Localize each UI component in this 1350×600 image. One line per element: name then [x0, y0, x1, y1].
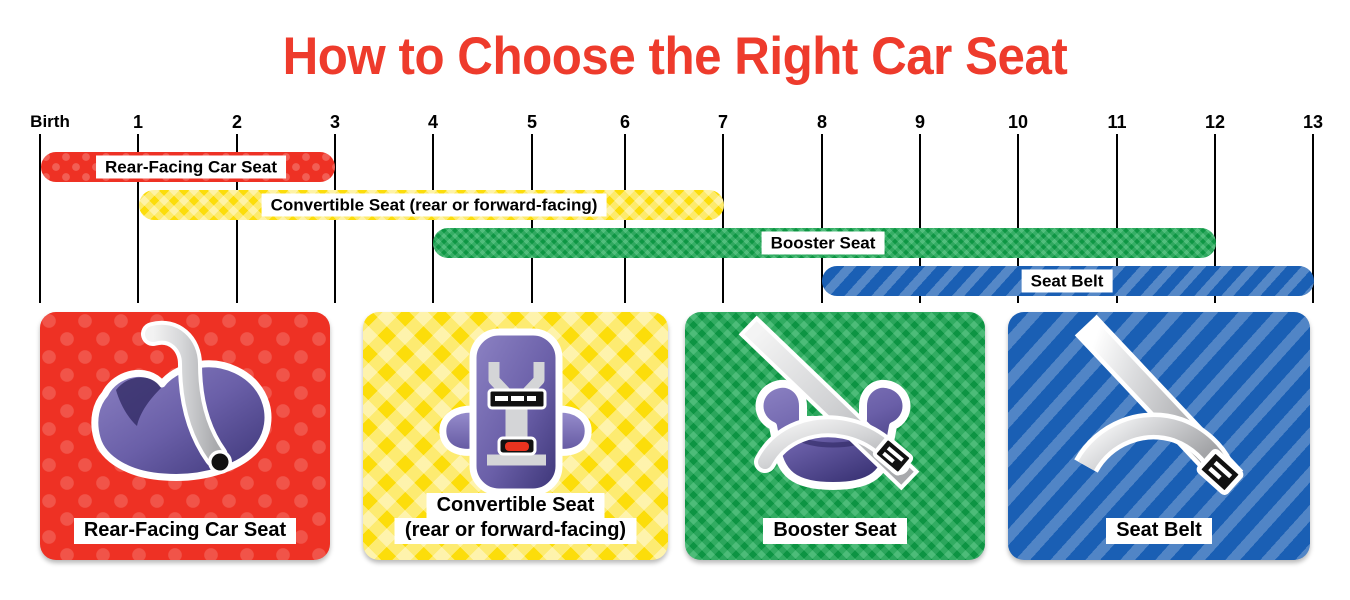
tick-label-9: 9	[915, 112, 925, 133]
tick-label-1: 1	[133, 112, 143, 133]
timeline-bar-label-rear-facing-car-seat: Rear-Facing Car Seat	[96, 155, 286, 178]
timeline-bar-label-booster-seat: Booster Seat	[762, 231, 885, 254]
timeline-bar-label-seat-belt: Seat Belt	[1022, 269, 1113, 292]
card-caption-booster-seat: Booster Seat	[685, 518, 985, 544]
age-timeline: Birth12345678910111213 Rear-Facing Car S…	[0, 112, 1350, 297]
tick-label-8: 8	[817, 112, 827, 133]
page-title: How to Choose the Right Car Seat	[47, 26, 1303, 87]
convertible-seat-icon	[363, 312, 668, 502]
card-caption-rear-facing-car-seat: Rear-Facing Car Seat	[40, 518, 330, 544]
card-booster-seat[interactable]: Booster Seat	[685, 312, 985, 560]
card-rear-facing-car-seat[interactable]: Rear-Facing Car Seat	[40, 312, 330, 560]
card-convertible-seat[interactable]: Convertible Seat(rear or forward-facing)	[363, 312, 668, 560]
tick-line-7	[722, 134, 724, 303]
tick-label-13: 13	[1303, 112, 1323, 133]
card-caption-line: Booster Seat	[763, 518, 906, 544]
timeline-bar-convertible-seat: Convertible Seat (rear or forward-facing…	[139, 190, 724, 220]
infographic-root: How to Choose the Right Car Seat Birth12…	[0, 0, 1350, 600]
seat-type-cards: Rear-Facing Car Seat	[0, 312, 1350, 564]
tick-label-2: 2	[232, 112, 242, 133]
tick-label-12: 12	[1205, 112, 1225, 133]
card-caption-line: Seat Belt	[1106, 518, 1212, 544]
card-caption-line: Rear-Facing Car Seat	[74, 518, 296, 544]
card-caption-convertible-seat: Convertible Seat(rear or forward-facing)	[363, 493, 668, 544]
card-caption-seat-belt: Seat Belt	[1008, 518, 1310, 544]
booster-seat-icon	[685, 312, 985, 502]
timeline-bar-booster-seat: Booster Seat	[433, 228, 1216, 258]
tick-line-birth	[39, 134, 41, 303]
tick-label-5: 5	[527, 112, 537, 133]
tick-label-birth: Birth	[30, 112, 70, 132]
tick-label-7: 7	[718, 112, 728, 133]
seat-belt-icon	[1008, 312, 1310, 502]
rear-facing-infant-seat-icon	[40, 312, 330, 502]
timeline-bar-label-convertible-seat: Convertible Seat (rear or forward-facing…	[262, 193, 607, 216]
timeline-bar-seat-belt: Seat Belt	[822, 266, 1314, 296]
tick-label-11: 11	[1107, 112, 1126, 133]
card-seat-belt[interactable]: Seat Belt	[1008, 312, 1310, 560]
tick-label-4: 4	[428, 112, 438, 133]
tick-label-10: 10	[1008, 112, 1028, 133]
card-caption-line: (rear or forward-facing)	[395, 518, 636, 544]
timeline-bar-rear-facing-car-seat: Rear-Facing Car Seat	[41, 152, 335, 182]
card-caption-line: Convertible Seat	[427, 493, 605, 519]
tick-label-3: 3	[330, 112, 340, 133]
tick-label-6: 6	[620, 112, 630, 133]
